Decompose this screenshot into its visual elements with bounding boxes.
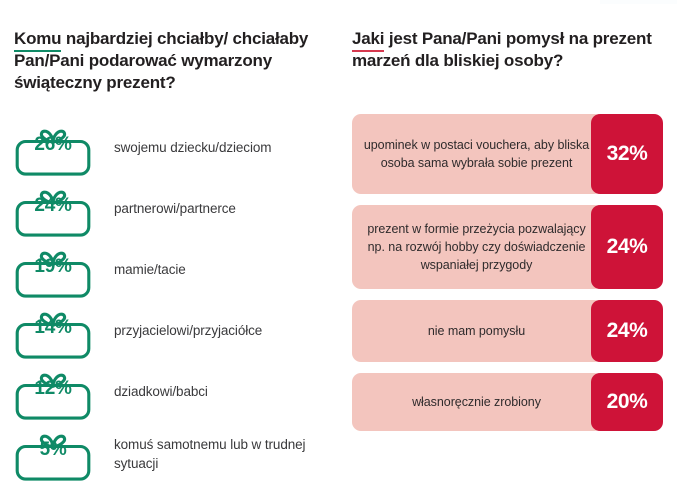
right-panel: Jaki jest Pana/Pani pomysł na prezent ma… (352, 0, 663, 500)
gift-percent: 26% (14, 135, 92, 154)
gift-percent: 12% (14, 379, 92, 398)
list-item: 26% swojemu dziecku/dzieciom (14, 118, 340, 179)
left-title-highlight: Komu (14, 28, 61, 50)
list-item: własnoręcznie zrobiony 20% (352, 373, 663, 431)
right-title-highlight: Jaki (352, 28, 384, 50)
card-label: upominek w postaci vouchera, aby bliska … (352, 114, 603, 194)
list-item: prezent w formie przeżycia pozwalający n… (352, 205, 663, 289)
right-title-rest: jest Pana/Pani pomysł na prezent marzeń … (352, 29, 652, 70)
list-item: 5% komuś samotnemu lub w trudnej sytuacj… (14, 423, 340, 484)
card-percent: 24% (591, 205, 663, 289)
list-item: 12% dziadkowi/babci (14, 362, 340, 423)
left-gift-list: 26% swojemu dziecku/dzieciom 24% partner… (14, 118, 340, 484)
gift-percent: 19% (14, 257, 92, 276)
gift-label: partnerowi/partnerce (92, 179, 236, 219)
list-item: 14% przyjacielowi/przyjaciółce (14, 301, 340, 362)
gift-percent: 14% (14, 318, 92, 337)
card-label: prezent w formie przeżycia pozwalający n… (352, 205, 603, 289)
card-percent: 20% (591, 373, 663, 431)
gift-percent: 24% (14, 196, 92, 215)
card-percent: 24% (591, 300, 663, 362)
gift-label: komuś samotnemu lub w trudnej sytuacji (92, 423, 340, 473)
gift-percent: 5% (14, 440, 92, 459)
list-item: upominek w postaci vouchera, aby bliska … (352, 114, 663, 194)
list-item: nie mam pomysłu 24% (352, 300, 663, 362)
card-label: nie mam pomysłu (352, 300, 603, 362)
gift-label: swojemu dziecku/dzieciom (92, 118, 271, 158)
right-panel-title: Jaki jest Pana/Pani pomysł na prezent ma… (352, 28, 657, 72)
right-card-list: upominek w postaci vouchera, aby bliska … (352, 114, 663, 442)
gift-label: dziadkowi/babci (92, 362, 208, 402)
gift-label: przyjacielowi/przyjaciółce (92, 301, 262, 341)
infographic-canvas: Komu najbardziej chciałby/ chciałaby Pan… (0, 0, 677, 500)
left-panel: Komu najbardziej chciałby/ chciałaby Pan… (14, 0, 340, 500)
card-percent: 32% (591, 114, 663, 194)
gift-label: mamie/tacie (92, 240, 186, 280)
card-label: własnoręcznie zrobiony (352, 373, 603, 431)
list-item: 24% partnerowi/partnerce (14, 179, 340, 240)
list-item: 19% mamie/tacie (14, 240, 340, 301)
left-panel-title: Komu najbardziej chciałby/ chciałaby Pan… (14, 28, 314, 94)
